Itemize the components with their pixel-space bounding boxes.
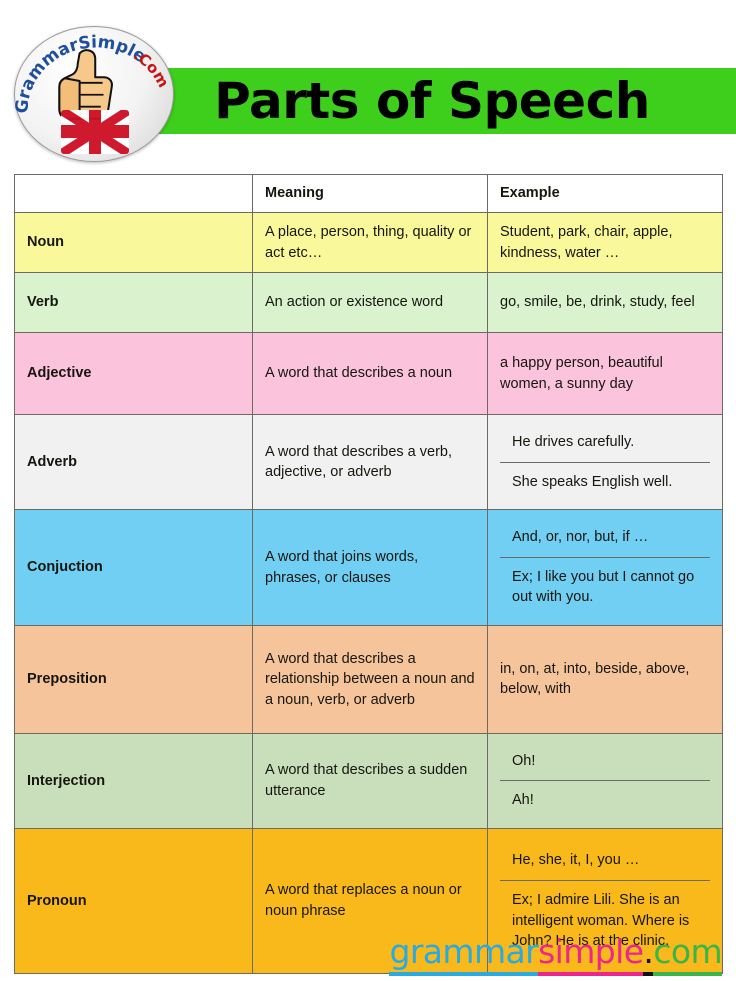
pos-name-conjuction: Conjuction: [15, 510, 253, 626]
example-item: Ah!: [500, 781, 710, 820]
parts-of-speech-table-wrap: Meaning Example Noun A place, person, th…: [14, 174, 722, 974]
example-sublist: He drives carefully. She speaks English …: [500, 423, 710, 501]
pos-name-adverb: Adverb: [15, 415, 253, 510]
table-header-row: Meaning Example: [15, 175, 723, 213]
thumbs-up-icon: [59, 50, 112, 118]
pos-name-verb: Verb: [15, 273, 253, 333]
example-subrow: He drives carefully.: [500, 423, 710, 462]
example-item: He, she, it, I, you …: [500, 841, 710, 880]
table-row: Conjuction A word that joins words, phra…: [15, 510, 723, 626]
pos-name-noun: Noun: [15, 213, 253, 273]
brand-wordmark[interactable]: grammarsimple.com: [389, 932, 722, 971]
pos-meaning-verb: An action or existence word: [253, 273, 488, 333]
example-item: He drives carefully.: [500, 423, 710, 462]
pos-example-noun: Student, park, chair, apple, kindness, w…: [488, 213, 723, 273]
uk-flag-icon: [61, 110, 129, 154]
table-row: Preposition A word that describes a rela…: [15, 625, 723, 733]
page-footer: grammarsimple.com: [0, 928, 736, 981]
brand-part-simple: simple: [538, 932, 643, 976]
pos-example-conjuction: And, or, nor, but, if … Ex; I like you b…: [488, 510, 723, 626]
header-cell-meaning: Meaning: [253, 175, 488, 213]
pos-meaning-adjective: A word that describes a noun: [253, 333, 488, 415]
brand-dot: .: [643, 932, 653, 976]
example-subrow: Ex; I like you but I cannot go out with …: [500, 557, 710, 617]
pos-meaning-noun: A place, person, thing, quality or act e…: [253, 213, 488, 273]
example-item: And, or, nor, but, if …: [500, 518, 710, 557]
page-title: Parts of Speech: [152, 62, 712, 140]
table-row: Noun A place, person, thing, quality or …: [15, 213, 723, 273]
grammarsimple-logo[interactable]: GrammarSimple .Com: [6, 24, 182, 164]
example-sublist: Oh! Ah!: [500, 742, 710, 820]
logo-text-dotcom: .Com: [130, 45, 172, 90]
header-cell-blank: [15, 175, 253, 213]
table-row: Adverb A word that describes a verb, adj…: [15, 415, 723, 510]
example-sublist: And, or, nor, but, if … Ex; I like you b…: [500, 518, 710, 617]
example-subrow: She speaks English well.: [500, 462, 710, 501]
parts-of-speech-table: Meaning Example Noun A place, person, th…: [14, 174, 723, 974]
pos-name-interjection: Interjection: [15, 733, 253, 828]
table-row: Verb An action or existence word go, smi…: [15, 273, 723, 333]
pos-example-preposition: in, on, at, into, beside, above, below, …: [488, 625, 723, 733]
pos-meaning-conjuction: A word that joins words, phrases, or cla…: [253, 510, 488, 626]
example-subrow: And, or, nor, but, if …: [500, 518, 710, 557]
pos-example-adverb: He drives carefully. She speaks English …: [488, 415, 723, 510]
pos-example-interjection: Oh! Ah!: [488, 733, 723, 828]
pos-meaning-interjection: A word that describes a sudden utterance: [253, 733, 488, 828]
example-item: She speaks English well.: [500, 462, 710, 501]
pos-meaning-preposition: A word that describes a relationship bet…: [253, 625, 488, 733]
pos-name-preposition: Preposition: [15, 625, 253, 733]
header-cell-example: Example: [488, 175, 723, 213]
logo-artwork: GrammarSimple .Com: [6, 24, 182, 164]
example-item: Ex; I like you but I cannot go out with …: [500, 557, 710, 617]
example-subrow: Oh!: [500, 742, 710, 781]
table-row: Adjective A word that describes a noun a…: [15, 333, 723, 415]
brand-part-com: com: [653, 932, 722, 976]
example-subrow: He, she, it, I, you …: [500, 841, 710, 880]
pos-example-verb: go, smile, be, drink, study, feel: [488, 273, 723, 333]
example-subrow: Ah!: [500, 781, 710, 820]
table-row: Interjection A word that describes a sud…: [15, 733, 723, 828]
pos-name-adjective: Adjective: [15, 333, 253, 415]
example-item: Oh!: [500, 742, 710, 781]
brand-part-grammar: grammar: [389, 932, 538, 976]
pos-meaning-adverb: A word that describes a verb, adjective,…: [253, 415, 488, 510]
pos-example-adjective: a happy person, beautiful women, a sunny…: [488, 333, 723, 415]
page-header: Parts of Speech GrammarSimple .Com: [0, 0, 736, 165]
